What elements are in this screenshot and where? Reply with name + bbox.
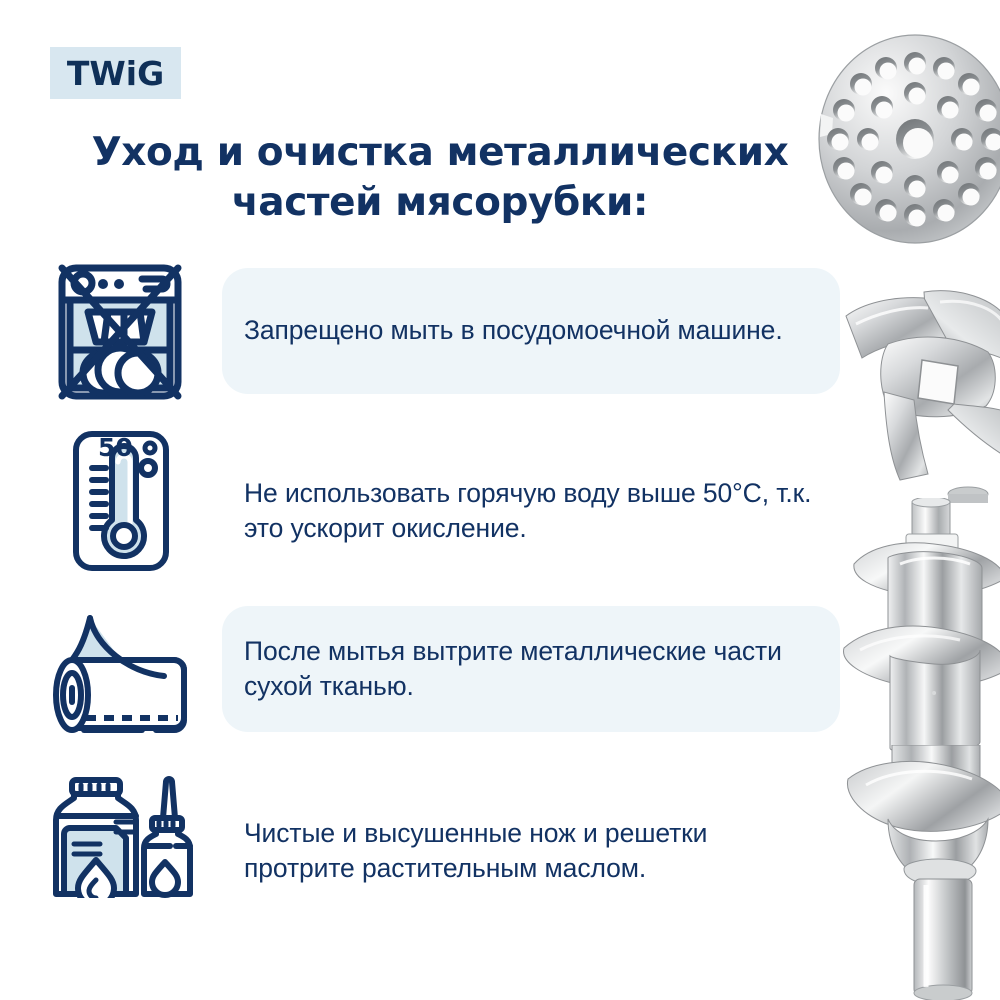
thermometer-label: 50: [98, 433, 133, 462]
tip-text-3: После мытья вытрите металлические части …: [244, 634, 818, 704]
tip-text-4: Чистые и высушенные нож и решетки протри…: [244, 816, 818, 886]
dishwasher-crossed-out-icon: [48, 256, 200, 408]
product-photo-column: [820, 0, 1000, 1000]
thermometer-50-degrees-icon: 50: [66, 428, 176, 574]
tip-card-4: Чистые и высушенные нож и решетки протри…: [222, 805, 840, 897]
brand-logo: TWiG: [50, 47, 181, 99]
mincer-auger-screw-upper-photo: [830, 498, 1000, 753]
oil-bottles-icon: [52, 776, 202, 898]
page-title-line-1: Уход и очистка металлических: [60, 128, 820, 178]
tip-card-3: После мытья вытрите металлические части …: [222, 606, 840, 732]
mincer-auger-screw-lower-photo: [830, 745, 1000, 1000]
mincer-grinding-plate-photo: [815, 22, 1000, 257]
tip-text-2: Не использовать горячую воду выше 50°C, …: [244, 476, 818, 546]
page-title-line-2: частей мясорубки:: [60, 178, 820, 228]
brand-logo-text: TWiG: [67, 57, 164, 90]
tip-text-1: Запрещено мыть в посудомоечной машине.: [244, 313, 783, 348]
infographic-page: TWiG Уход и очистка металлических частей…: [0, 0, 1000, 1000]
rolled-cloth-icon: [44, 612, 200, 738]
mincer-cutting-blade-photo: [828, 288, 1000, 503]
page-title: Уход и очистка металлических частей мясо…: [60, 128, 820, 228]
tip-card-2: Не использовать горячую воду выше 50°C, …: [222, 465, 840, 557]
tip-card-1: Запрещено мыть в посудомоечной машине.: [222, 268, 840, 394]
